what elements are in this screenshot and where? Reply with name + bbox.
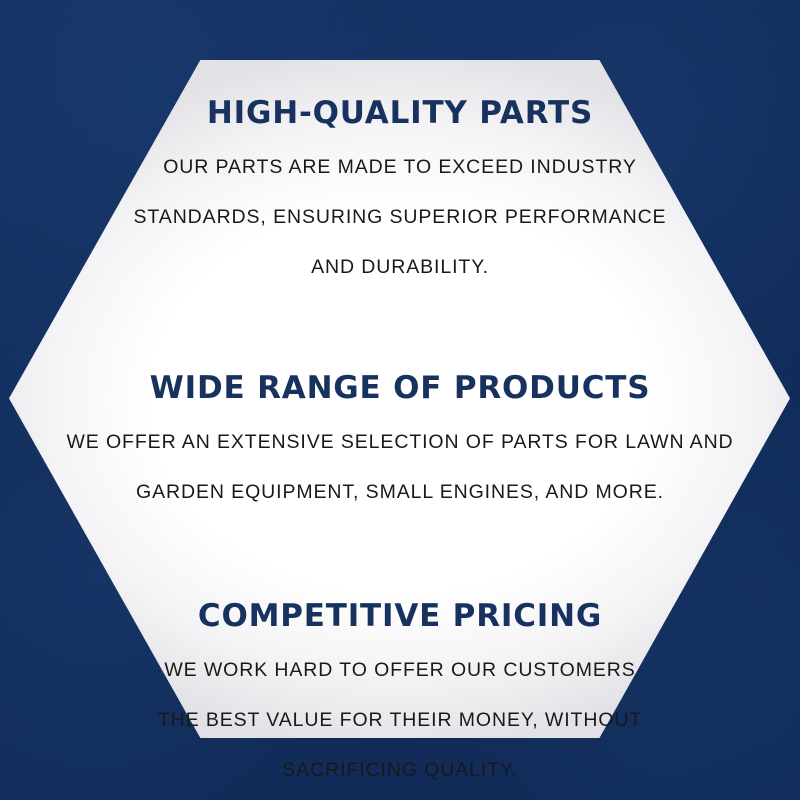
feature-poster: HIGH-QUALITY PARTS OUR PARTS ARE MADE TO… bbox=[0, 0, 800, 800]
feature-body-line: OUR PARTS ARE MADE TO EXCEED INDUSTRY bbox=[20, 156, 780, 179]
feature-body-line: SACRIFICING QUALITY. bbox=[20, 759, 780, 782]
feature-body-line: THE BEST VALUE FOR THEIR MONEY, WITHOUT bbox=[20, 709, 780, 732]
feature-body-line: WE WORK HARD TO OFFER OUR CUSTOMERS bbox=[20, 659, 780, 682]
feature-section-wide-range-of-products: WIDE RANGE OF PRODUCTS WE OFFER AN EXTEN… bbox=[20, 345, 780, 531]
feature-heading: WIDE RANGE OF PRODUCTS bbox=[20, 371, 780, 405]
feature-body: OUR PARTS ARE MADE TO EXCEED INDUSTRY ST… bbox=[20, 156, 780, 279]
feature-body: WE OFFER AN EXTENSIVE SELECTION OF PARTS… bbox=[20, 431, 780, 504]
feature-body-line: STANDARDS, ENSURING SUPERIOR PERFORMANCE bbox=[20, 206, 780, 229]
feature-body: WE WORK HARD TO OFFER OUR CUSTOMERS THE … bbox=[20, 659, 780, 782]
feature-body-line: WE OFFER AN EXTENSIVE SELECTION OF PARTS… bbox=[20, 431, 780, 454]
feature-section-competitive-pricing: COMPETITIVE PRICING WE WORK HARD TO OFFE… bbox=[20, 574, 780, 800]
feature-body-line: AND DURABILITY. bbox=[20, 256, 780, 279]
feature-body-line: GARDEN EQUIPMENT, SMALL ENGINES, AND MOR… bbox=[20, 481, 780, 504]
feature-list: HIGH-QUALITY PARTS OUR PARTS ARE MADE TO… bbox=[0, 0, 800, 800]
feature-heading: HIGH-QUALITY PARTS bbox=[20, 96, 780, 130]
feature-heading: COMPETITIVE PRICING bbox=[20, 599, 780, 633]
feature-section-high-quality-parts: HIGH-QUALITY PARTS OUR PARTS ARE MADE TO… bbox=[20, 70, 780, 306]
